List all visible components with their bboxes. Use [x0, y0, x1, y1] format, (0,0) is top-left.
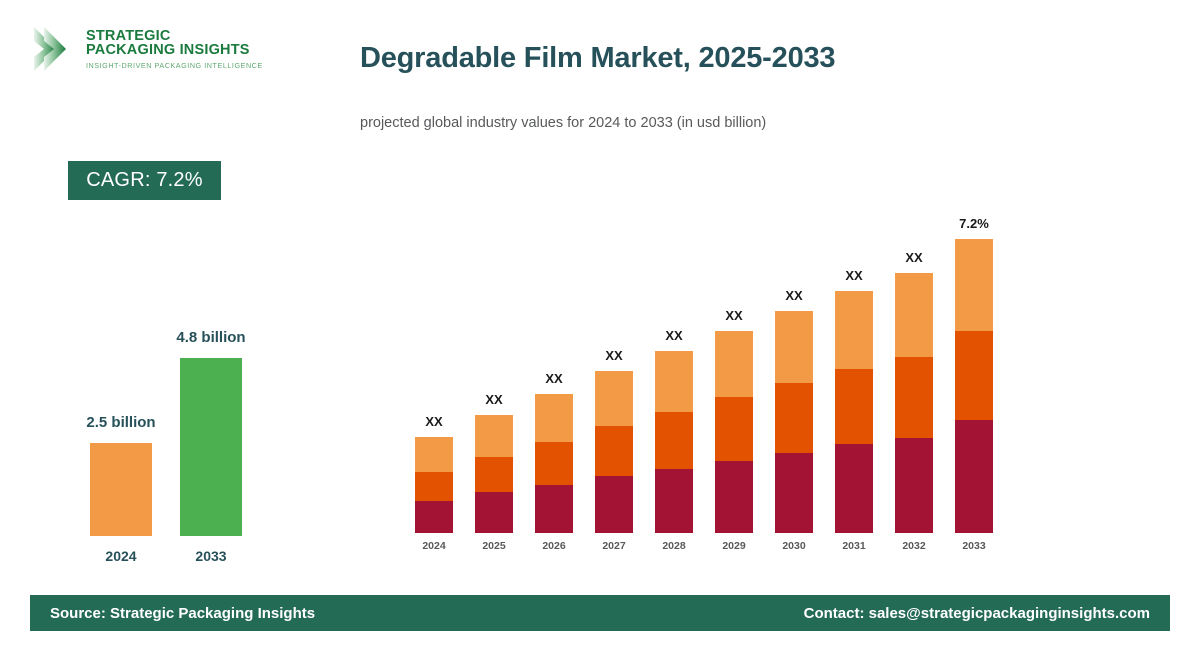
stacked-segment-segment-middle [895, 357, 933, 438]
stacked-bar [895, 273, 933, 533]
comparison-bar-chart: 2.5 billion20244.8 billion2033 [40, 300, 320, 570]
stacked-column-2029: XX [715, 308, 753, 533]
stacked-segment-segment-top [775, 311, 813, 383]
stacked-segment-segment-middle [775, 383, 813, 453]
stacked-data-label: XX [425, 414, 442, 429]
comparison-value-label: 4.8 billion [176, 329, 245, 346]
page-subtitle: projected global industry values for 202… [360, 115, 766, 131]
stacked-segment-segment-bottom [595, 476, 633, 533]
brand-logo: STRATEGIC PACKAGING INSIGHTS INSIGHT-DRI… [30, 18, 290, 80]
footer-bar: Source: Strategic Packaging Insights Con… [30, 595, 1170, 631]
footer-source: Source: Strategic Packaging Insights [50, 605, 315, 622]
stacked-data-label: XX [725, 308, 742, 323]
stacked-column-2032: XX [895, 250, 933, 533]
stacked-bar [775, 311, 813, 533]
stacked-x-tick-2032: 2032 [895, 540, 933, 552]
stacked-data-label: XX [665, 328, 682, 343]
stacked-segment-segment-middle [715, 397, 753, 461]
stacked-x-tick-2029: 2029 [715, 540, 753, 552]
stacked-segment-segment-top [535, 394, 573, 442]
brand-tagline: INSIGHT-DRIVEN PACKAGING INTELLIGENCE [86, 62, 263, 69]
stacked-segment-segment-middle [415, 472, 453, 501]
brand-name-line1: STRATEGIC [86, 29, 263, 44]
stacked-bar [955, 239, 993, 533]
stacked-column-2030: XX [775, 288, 813, 533]
stacked-segment-segment-bottom [955, 420, 993, 533]
stacked-bar [715, 331, 753, 533]
stacked-data-label: XX [845, 268, 862, 283]
stacked-x-tick-2027: 2027 [595, 540, 633, 552]
stacked-x-tick-2024: 2024 [415, 540, 453, 552]
stacked-segment-segment-middle [475, 457, 513, 492]
stacked-plot-area: XXXXXXXXXXXXXXXXXX7.2% [405, 195, 1025, 533]
chevron-right-icon [30, 23, 78, 75]
stacked-data-label: XX [605, 348, 622, 363]
stacked-bar [595, 371, 633, 533]
stacked-segment-segment-top [955, 239, 993, 331]
stacked-data-label: 7.2% [959, 216, 989, 231]
stacked-segment-segment-bottom [655, 469, 693, 533]
stacked-segment-segment-bottom [715, 461, 753, 533]
stacked-segment-segment-bottom [895, 438, 933, 533]
stacked-column-2027: XX [595, 348, 633, 533]
stacked-segment-segment-bottom [475, 492, 513, 533]
stacked-bar [415, 437, 453, 533]
stacked-column-2028: XX [655, 328, 693, 533]
stacked-segment-segment-bottom [835, 444, 873, 533]
stacked-column-2033: 7.2% [955, 216, 993, 533]
brand-name-line2: PACKAGING INSIGHTS [86, 43, 263, 58]
stacked-segment-segment-bottom [415, 501, 453, 533]
forecast-stacked-bar-chart: XXXXXXXXXXXXXXXXXX7.2% 20242025202620272… [405, 195, 1025, 560]
stacked-bar [475, 415, 513, 533]
stacked-segment-segment-top [595, 371, 633, 426]
comparison-x-tick-2033: 2033 [180, 548, 242, 564]
stacked-segment-segment-middle [955, 331, 993, 420]
cagr-badge: CAGR: 7.2% [68, 161, 221, 200]
stacked-x-tick-2028: 2028 [655, 540, 693, 552]
stacked-data-label: XX [905, 250, 922, 265]
stacked-bar [535, 394, 573, 533]
comparison-x-tick-2024: 2024 [90, 548, 152, 564]
comparison-value-label: 2.5 billion [86, 414, 155, 431]
stacked-x-tick-2033: 2033 [955, 540, 993, 552]
brand-wordmark: STRATEGIC PACKAGING INSIGHTS INSIGHT-DRI… [86, 29, 263, 70]
stacked-segment-segment-top [655, 351, 693, 412]
stacked-data-label: XX [485, 392, 502, 407]
footer-contact[interactable]: Contact: sales@strategicpackaginginsight… [804, 605, 1150, 622]
stacked-bar [655, 351, 693, 533]
page-title: Degradable Film Market, 2025-2033 [360, 42, 835, 75]
stacked-x-tick-2031: 2031 [835, 540, 873, 552]
stacked-segment-segment-bottom [775, 453, 813, 533]
stacked-segment-segment-top [475, 415, 513, 457]
comparison-column-2033: 4.8 billion [180, 329, 242, 536]
stacked-x-tick-2026: 2026 [535, 540, 573, 552]
stacked-x-tick-2025: 2025 [475, 540, 513, 552]
stacked-segment-segment-middle [655, 412, 693, 469]
stacked-segment-segment-top [895, 273, 933, 357]
stacked-x-tick-2030: 2030 [775, 540, 813, 552]
stacked-column-2024: XX [415, 414, 453, 533]
stacked-segment-segment-middle [595, 426, 633, 476]
comparison-bar [180, 358, 242, 536]
stacked-segment-segment-bottom [535, 485, 573, 533]
stacked-segment-segment-middle [835, 369, 873, 444]
stacked-column-2031: XX [835, 268, 873, 533]
stacked-segment-segment-top [835, 291, 873, 369]
stacked-column-2025: XX [475, 392, 513, 533]
stacked-column-2026: XX [535, 371, 573, 533]
stacked-segment-segment-top [715, 331, 753, 397]
stacked-data-label: XX [545, 371, 562, 386]
comparison-bar [90, 443, 152, 536]
stacked-segment-segment-top [415, 437, 453, 472]
comparison-column-2024: 2.5 billion [90, 414, 152, 536]
stacked-bar [835, 291, 873, 533]
stacked-segment-segment-middle [535, 442, 573, 485]
stacked-data-label: XX [785, 288, 802, 303]
